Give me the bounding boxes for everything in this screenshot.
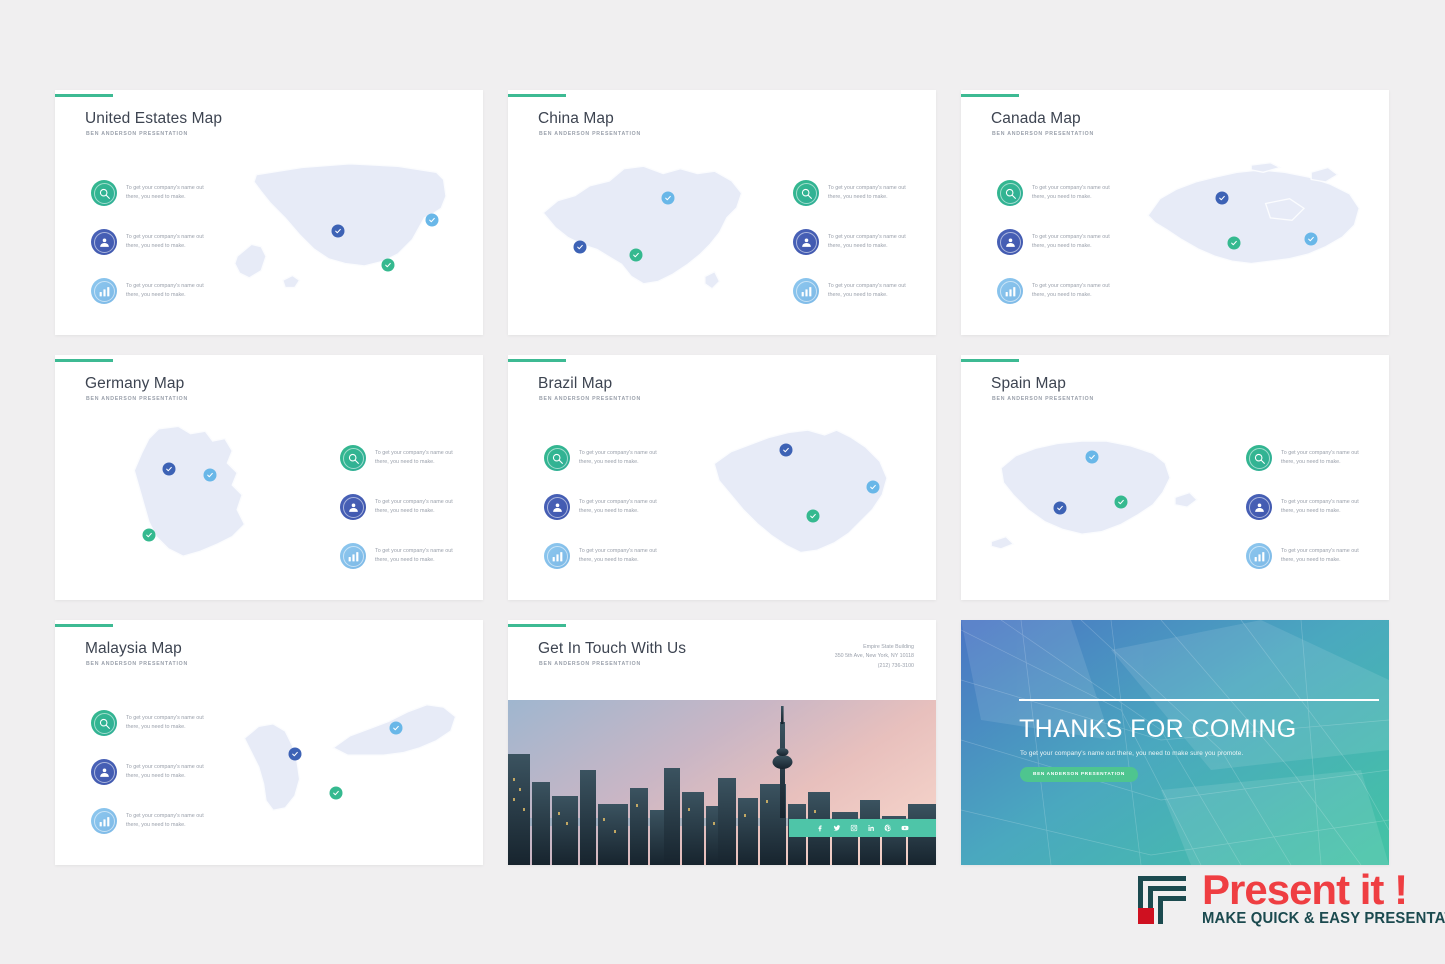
- accent-bar: [55, 624, 113, 627]
- search-icon: [1246, 445, 1272, 471]
- divider-rule: [1019, 699, 1379, 701]
- accent-bar: [508, 359, 566, 362]
- map-marker-navy[interactable]: [288, 747, 301, 760]
- search-icon: [793, 180, 819, 206]
- feature-item: To get your company's name out there, yo…: [91, 808, 210, 834]
- thanks-subtitle: To get your company's name out there, yo…: [1020, 750, 1243, 757]
- accent-bar: [55, 359, 113, 362]
- slide-canada-map[interactable]: Canada MapBEN ANDERSON PRESENTATIONTo ge…: [961, 90, 1389, 335]
- slide-subtitle: BEN ANDERSON PRESENTATION: [86, 131, 188, 137]
- bar-chart-icon: [1246, 543, 1272, 569]
- feature-item: To get your company's name out there, yo…: [793, 278, 912, 304]
- slide-united-estates-map[interactable]: United Estates MapBEN ANDERSON PRESENTAT…: [55, 90, 483, 335]
- feature-text: To get your company's name out there, yo…: [1032, 282, 1116, 301]
- youtube-icon[interactable]: [901, 824, 909, 832]
- accent-bar: [961, 94, 1019, 97]
- feature-list: To get your company's name out there, yo…: [91, 710, 210, 834]
- address-line-2: 350 5th Ave, New York, NY 10118: [835, 652, 914, 661]
- feature-text: To get your company's name out there, yo…: [828, 184, 912, 203]
- map-marker-green[interactable]: [142, 529, 155, 542]
- map-marker-sky[interactable]: [1085, 451, 1098, 464]
- feature-item: To get your company's name out there, yo…: [91, 180, 210, 206]
- support-agent-icon: [91, 229, 117, 255]
- slide-title: Brazil Map: [538, 375, 612, 393]
- feature-item: To get your company's name out there, yo…: [544, 543, 663, 569]
- map-marker-sky[interactable]: [866, 480, 879, 493]
- map-graphic: [73, 395, 318, 590]
- slide-subtitle: BEN ANDERSON PRESENTATION: [539, 661, 641, 667]
- feature-item: To get your company's name out there, yo…: [793, 180, 912, 206]
- feature-text: To get your company's name out there, yo…: [1032, 233, 1116, 252]
- feature-list: To get your company's name out there, yo…: [1246, 445, 1365, 569]
- feature-item: To get your company's name out there, yo…: [91, 759, 210, 785]
- instagram-icon[interactable]: [850, 824, 858, 832]
- slide-thanks-for-coming[interactable]: THANKS FOR COMINGTo get your company's n…: [961, 620, 1389, 865]
- feature-text: To get your company's name out there, yo…: [828, 282, 912, 301]
- slide-title: Germany Map: [85, 375, 184, 393]
- slide-subtitle: BEN ANDERSON PRESENTATION: [86, 661, 188, 667]
- slide-title: Spain Map: [991, 375, 1066, 393]
- present-it-logo: Present it ! MAKE QUICK & EASY PRESENTAT…: [1130, 868, 1445, 930]
- logo-tagline: MAKE QUICK & EASY PRESENTATIONS: [1202, 910, 1445, 928]
- city-skyline-photo: [508, 700, 936, 865]
- accent-bar: [961, 359, 1019, 362]
- feature-text: To get your company's name out there, yo…: [1281, 449, 1365, 468]
- twitter-icon[interactable]: [833, 824, 841, 832]
- feature-text: To get your company's name out there, yo…: [375, 498, 459, 517]
- feature-text: To get your company's name out there, yo…: [1281, 547, 1365, 566]
- feature-text: To get your company's name out there, yo…: [126, 714, 210, 733]
- search-icon: [340, 445, 366, 471]
- feature-list: To get your company's name out there, yo…: [91, 180, 210, 304]
- linkedin-icon[interactable]: [867, 824, 875, 832]
- feature-list: To get your company's name out there, yo…: [997, 180, 1116, 304]
- slide-subtitle: BEN ANDERSON PRESENTATION: [539, 396, 641, 402]
- feature-text: To get your company's name out there, yo…: [126, 763, 210, 782]
- map-graphic: [1136, 130, 1376, 325]
- map-marker-navy[interactable]: [573, 241, 586, 254]
- map-marker-green[interactable]: [382, 258, 395, 271]
- slide-malaysia-map[interactable]: Malaysia MapBEN ANDERSON PRESENTATIONTo …: [55, 620, 483, 865]
- slide-subtitle: BEN ANDERSON PRESENTATION: [992, 131, 1094, 137]
- search-icon: [91, 180, 117, 206]
- feature-text: To get your company's name out there, yo…: [126, 282, 210, 301]
- map-marker-navy[interactable]: [1216, 192, 1229, 205]
- feature-item: To get your company's name out there, yo…: [997, 180, 1116, 206]
- feature-item: To get your company's name out there, yo…: [340, 543, 459, 569]
- map-marker-green[interactable]: [1115, 496, 1128, 509]
- slide-title: United Estates Map: [85, 110, 222, 128]
- map-marker-navy[interactable]: [1053, 502, 1066, 515]
- support-agent-icon: [1246, 494, 1272, 520]
- map-marker-green[interactable]: [806, 509, 819, 522]
- contact-address: Empire State Building350 5th Ave, New Yo…: [835, 643, 914, 671]
- feature-text: To get your company's name out there, yo…: [126, 233, 210, 252]
- map-marker-navy[interactable]: [162, 463, 175, 476]
- map-graphic: [526, 130, 771, 325]
- accent-bar: [508, 94, 566, 97]
- slide-germany-map[interactable]: Germany MapBEN ANDERSON PRESENTATIONTo g…: [55, 355, 483, 600]
- feature-item: To get your company's name out there, yo…: [1246, 494, 1365, 520]
- map-graphic: [683, 395, 923, 590]
- feature-text: To get your company's name out there, yo…: [828, 233, 912, 252]
- search-icon: [91, 710, 117, 736]
- feature-text: To get your company's name out there, yo…: [579, 547, 663, 566]
- facebook-icon[interactable]: [816, 824, 824, 832]
- search-icon: [997, 180, 1023, 206]
- feature-list: To get your company's name out there, yo…: [544, 445, 663, 569]
- slide-title: Canada Map: [991, 110, 1081, 128]
- bar-chart-icon: [793, 278, 819, 304]
- bar-chart-icon: [997, 278, 1023, 304]
- feature-text: To get your company's name out there, yo…: [579, 498, 663, 517]
- slide-china-map[interactable]: China MapBEN ANDERSON PRESENTATIONTo get…: [508, 90, 936, 335]
- slide-get-in-touch-with-us[interactable]: Get In Touch With UsBEN ANDERSON PRESENT…: [508, 620, 936, 865]
- feature-text: To get your company's name out there, yo…: [579, 449, 663, 468]
- feature-item: To get your company's name out there, yo…: [997, 278, 1116, 304]
- feature-item: To get your company's name out there, yo…: [340, 494, 459, 520]
- support-agent-icon: [340, 494, 366, 520]
- feature-item: To get your company's name out there, yo…: [793, 229, 912, 255]
- bar-chart-icon: [91, 808, 117, 834]
- feature-list: To get your company's name out there, yo…: [340, 445, 459, 569]
- feature-item: To get your company's name out there, yo…: [340, 445, 459, 471]
- slide-brazil-map[interactable]: Brazil MapBEN ANDERSON PRESENTATIONTo ge…: [508, 355, 936, 600]
- feature-text: To get your company's name out there, yo…: [126, 812, 210, 831]
- feature-item: To get your company's name out there, yo…: [544, 445, 663, 471]
- support-agent-icon: [91, 759, 117, 785]
- pinterest-icon[interactable]: [884, 824, 892, 832]
- feature-item: To get your company's name out there, yo…: [91, 229, 210, 255]
- support-agent-icon: [544, 494, 570, 520]
- bar-chart-icon: [91, 278, 117, 304]
- search-icon: [544, 445, 570, 471]
- feature-item: To get your company's name out there, yo…: [997, 229, 1116, 255]
- feature-item: To get your company's name out there, yo…: [1246, 543, 1365, 569]
- feature-item: To get your company's name out there, yo…: [91, 710, 210, 736]
- accent-bar: [55, 94, 113, 97]
- feature-text: To get your company's name out there, yo…: [1032, 184, 1116, 203]
- feature-text: To get your company's name out there, yo…: [126, 184, 210, 203]
- feature-item: To get your company's name out there, yo…: [91, 278, 210, 304]
- map-marker-sky[interactable]: [1305, 233, 1318, 246]
- feature-text: To get your company's name out there, yo…: [375, 547, 459, 566]
- address-line-1: Empire State Building: [835, 643, 914, 652]
- feature-item: To get your company's name out there, yo…: [1246, 445, 1365, 471]
- support-agent-icon: [997, 229, 1023, 255]
- map-marker-navy[interactable]: [780, 443, 793, 456]
- slide-title: Malaysia Map: [85, 640, 182, 658]
- map-marker-navy[interactable]: [332, 225, 345, 238]
- slide-title: Get In Touch With Us: [538, 640, 686, 658]
- feature-list: To get your company's name out there, yo…: [793, 180, 912, 304]
- logo-wordmark: Present it !: [1202, 870, 1445, 910]
- map-marker-sky[interactable]: [425, 213, 438, 226]
- map-marker-sky[interactable]: [204, 468, 217, 481]
- presentation-cta-button[interactable]: BEN ANDERSON PRESENTATION: [1020, 767, 1138, 782]
- social-links-bar: [789, 819, 936, 837]
- bar-chart-icon: [340, 543, 366, 569]
- slide-title: China Map: [538, 110, 614, 128]
- slide-spain-map[interactable]: Spain MapBEN ANDERSON PRESENTATIONTo get…: [961, 355, 1389, 600]
- support-agent-icon: [793, 229, 819, 255]
- slide-deck: United Estates MapBEN ANDERSON PRESENTAT…: [55, 90, 1390, 865]
- feature-text: To get your company's name out there, yo…: [1281, 498, 1365, 517]
- map-graphic: [230, 130, 470, 325]
- map-marker-green[interactable]: [329, 786, 342, 799]
- thanks-title: THANKS FOR COMING: [1019, 715, 1297, 744]
- feature-text: To get your company's name out there, yo…: [375, 449, 459, 468]
- map-graphic: [230, 660, 470, 855]
- map-marker-sky[interactable]: [389, 722, 402, 735]
- map-marker-green[interactable]: [630, 248, 643, 261]
- phone-number: (212) 736-3100: [835, 662, 914, 671]
- bar-chart-icon: [544, 543, 570, 569]
- map-marker-green[interactable]: [1228, 237, 1241, 250]
- map-graphic: [979, 395, 1224, 590]
- map-marker-sky[interactable]: [662, 192, 675, 205]
- logo-mark-icon: [1130, 868, 1192, 930]
- accent-bar: [508, 624, 566, 627]
- feature-item: To get your company's name out there, yo…: [544, 494, 663, 520]
